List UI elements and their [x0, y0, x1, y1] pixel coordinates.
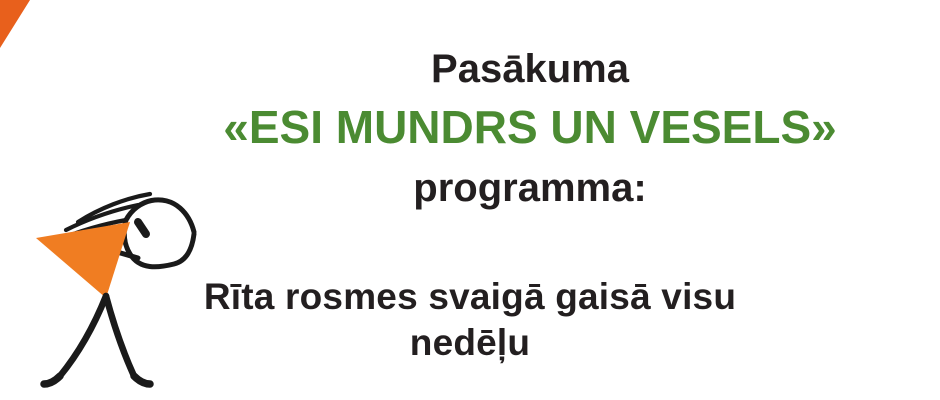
heading-block: Pasākuma «ESI MUNDRS UN VESELS» programm…: [120, 38, 940, 210]
event-title: «ESI MUNDRS UN VESELS»: [120, 91, 940, 153]
heading-line-2: programma:: [120, 153, 940, 210]
subtitle-block: Rīta rosmes svaigā gaisā visu nedēļu: [150, 274, 790, 367]
heading-line-1: Pasākuma: [120, 38, 940, 91]
subtitle-line-1: Rīta rosmes svaigā gaisā visu: [150, 274, 790, 320]
runner-torso-icon: [36, 222, 130, 298]
runner-eye-icon: [138, 222, 146, 234]
subtitle-line-2: nedēļu: [150, 320, 790, 366]
poster-canvas: Pasākuma «ESI MUNDRS UN VESELS» programm…: [0, 0, 940, 400]
runner-legs-icon: [44, 296, 150, 384]
orange-corner-wedge-icon: [0, 0, 34, 50]
